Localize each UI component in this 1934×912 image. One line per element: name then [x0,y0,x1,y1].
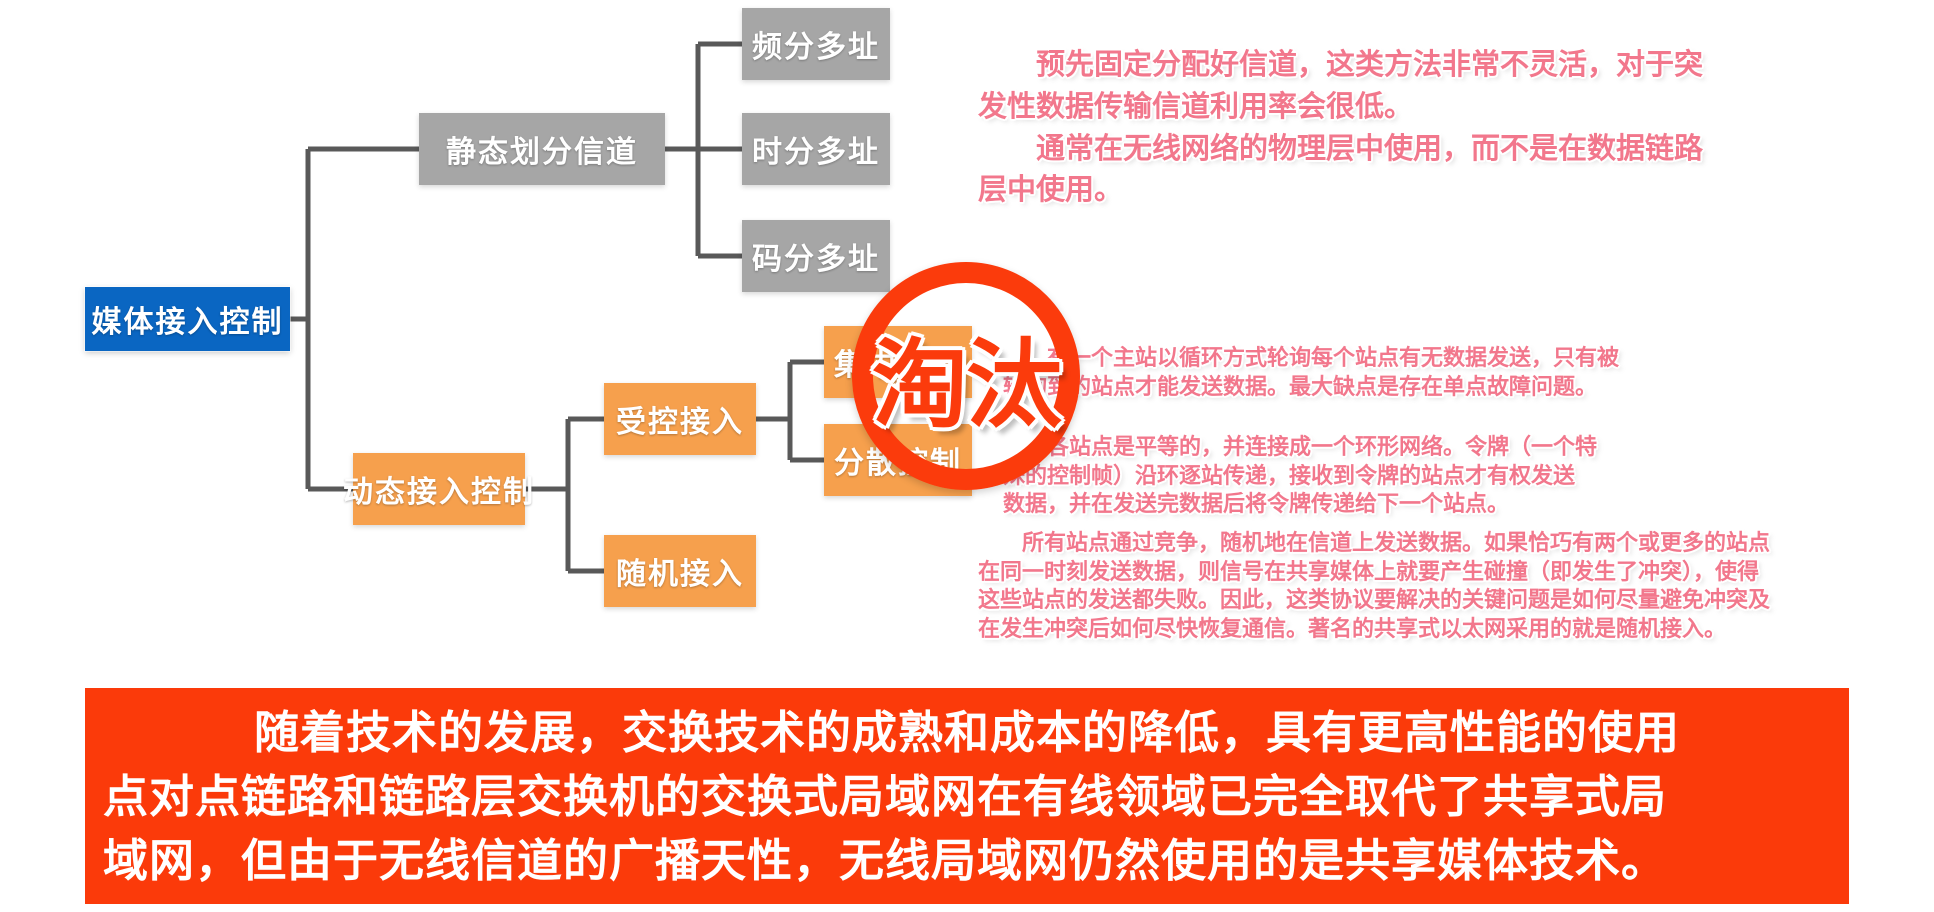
node-root-media-access-control[interactable]: 媒体接入控制 [85,287,290,351]
annotation-line: 各站点是平等的，并连接成一个环形网络。令牌（一个特 [1047,435,1597,460]
annotation-line: 在同一时刻发送数据，则信号在共享媒体上就要产生碰撞（即发生了冲突），使得 [978,560,1759,585]
node-fdma[interactable]: 频分多址 [742,8,890,80]
node-label: 媒体接入控制 [92,297,284,341]
mindmap-canvas: 媒体接入控制 静态划分信道 频分多址 时分多址 码分多址 动态接入控制 受控接入… [0,0,1934,912]
node-label: 受控接入 [616,397,744,441]
annotation-line: 发性数据传输信道利用率会很低。 [978,89,1413,123]
banner-line-2: 点对点链路和链路层交换机的交换式局域网在有线领域已完全取代了共享式局 [103,765,1831,829]
annotation-centralized-control-note: 有一个主站以循环方式轮询每个站点有无数据发送，只有被 轮询到的站点才能发送数据。… [1003,345,1923,402]
annotation-random-access-note: 所有站点通过竞争，随机地在信道上发送数据。如果恰巧有两个或更多的站点 在同一时刻… [978,530,1928,644]
annotation-line: 所有站点通过竞争，随机地在信道上发送数据。如果恰巧有两个或更多的站点 [1022,531,1770,556]
annotation-static-channel-note: 预先固定分配好信道，这类方法非常不灵活，对于突 发性数据传输信道利用率会很低。 … [978,44,1908,211]
stamp-label: 淘汰 [852,262,1080,490]
annotation-line: 数据，并在发送完数据后将令牌传递给下一个站点。 [1003,492,1509,517]
annotation-line: 殊的控制帧）沿环逐站传递，接收到令牌的站点才有权发送 [1003,464,1575,489]
node-label: 随机接入 [616,549,744,593]
obsolete-stamp: 淘汰 [852,262,1080,490]
annotation-line: 预先固定分配好信道，这类方法非常不灵活，对于突 [1036,47,1703,81]
node-label: 时分多址 [752,127,880,171]
annotation-line: 轮询到的站点才能发送数据。最大缺点是存在单点故障问题。 [1003,375,1597,400]
node-random-access[interactable]: 随机接入 [604,535,756,607]
annotation-line: 在发生冲突后如何尽快恢复通信。著名的共享式以太网采用的就是随机接入。 [978,617,1726,642]
node-controlled-access[interactable]: 受控接入 [604,383,756,455]
node-static-channel-division[interactable]: 静态划分信道 [419,113,665,185]
banner-line-3: 域网，但由于无线信道的广播天性，无线局域网仍然使用的是共享媒体技术。 [103,829,1831,893]
summary-banner: 随着技术的发展，交换技术的成熟和成本的降低，具有更高性能的使用 点对点链路和链路… [85,688,1849,904]
annotation-line: 层中使用。 [978,172,1123,206]
node-label: 静态划分信道 [446,127,638,171]
annotation-line: 这些站点的发送都失败。因此，这类协议要解决的关键问题是如何尽量避免冲突及 [978,588,1770,613]
node-dynamic-access-control[interactable]: 动态接入控制 [353,453,525,525]
annotation-line: 有一个主站以循环方式轮询每个站点有无数据发送，只有被 [1047,346,1619,371]
node-label: 动态接入控制 [343,467,535,511]
annotation-line: 通常在无线网络的物理层中使用，而不是在数据链路 [1036,131,1703,165]
annotation-distributed-control-note: 各站点是平等的，并连接成一个环形网络。令牌（一个特 殊的控制帧）沿环逐站传递，接… [1003,434,1923,520]
node-tdma[interactable]: 时分多址 [742,113,890,185]
banner-line-1: 随着技术的发展，交换技术的成熟和成本的降低，具有更高性能的使用 [103,701,1831,765]
node-label: 频分多址 [752,22,880,66]
